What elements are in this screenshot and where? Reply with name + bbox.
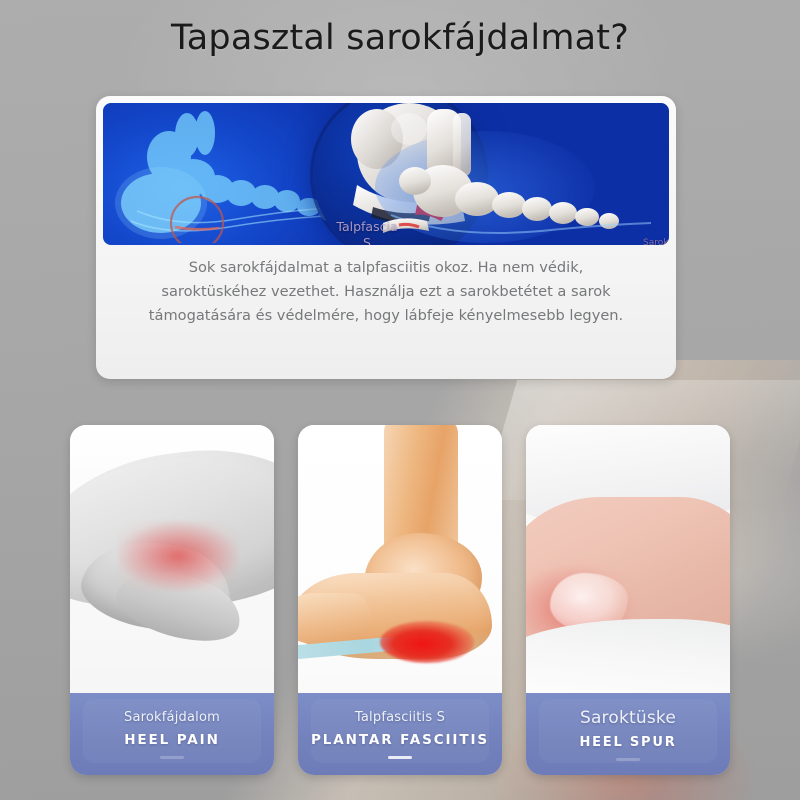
card-label-en: PLANTAR FASCIITIS xyxy=(311,732,489,748)
card-label-hu: Talpfasciitis S xyxy=(355,710,445,725)
card-underline xyxy=(616,758,640,761)
card-label-band: Saroktüske HEEL SPUR xyxy=(526,693,730,775)
card-heel-spur[interactable]: Saroktüske HEEL SPUR xyxy=(526,425,730,775)
card-label-hu: Saroktüske xyxy=(580,708,676,728)
hero-description: Sok sarokfájdalmat a talpfasciitis okoz.… xyxy=(136,256,636,328)
heel-spur-photo xyxy=(526,425,730,693)
card-label-hu: Sarokfájdalom xyxy=(124,710,220,725)
page-title: Tapasztal sarokfájdalmat? xyxy=(0,18,800,58)
plantar-fasciitis-illustration xyxy=(298,425,502,693)
card-heel-pain[interactable]: Sarokfájdalom HEEL PAIN xyxy=(70,425,274,775)
heel-pain-photo xyxy=(70,425,274,693)
card-underline xyxy=(160,756,184,759)
card-underline xyxy=(388,756,412,759)
card-label-en: HEEL PAIN xyxy=(124,732,220,748)
xray-comparison-image: Talpfascia S Saroktüske xyxy=(103,103,669,245)
product-infographic-page: Tapasztal sarokfájdalmat? xyxy=(0,0,800,800)
card-label-band: Sarokfájdalom HEEL PAIN xyxy=(70,693,274,775)
card-plantar-fasciitis[interactable]: Talpfasciitis S PLANTAR FASCIITIS xyxy=(298,425,502,775)
card-label-band: Talpfasciitis S PLANTAR FASCIITIS xyxy=(298,693,502,775)
hero-panel: Talpfascia S Saroktüske Sok sarokfájdalm… xyxy=(96,96,676,379)
condition-cards: Sarokfájdalom HEEL PAIN Tal xyxy=(70,425,730,777)
card-label-en: HEEL SPUR xyxy=(579,735,676,750)
bone-foot-icon xyxy=(365,107,665,245)
